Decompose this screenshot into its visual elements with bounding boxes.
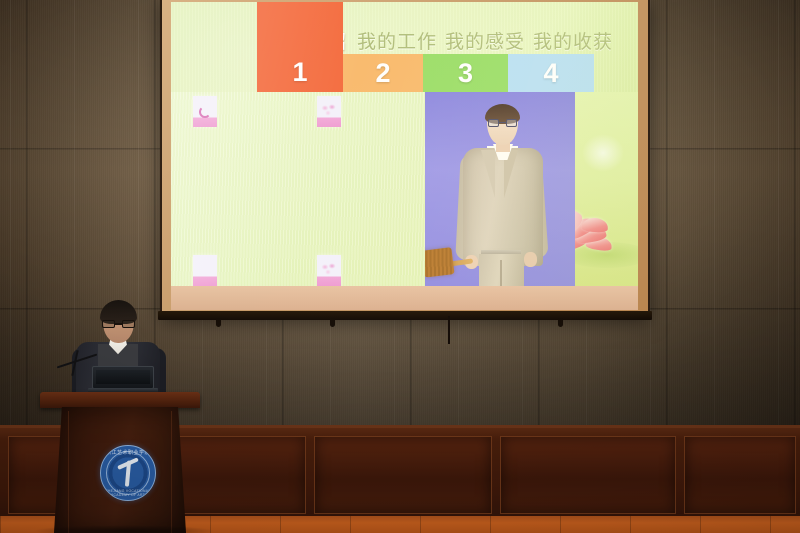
decorative-square-icon [193, 96, 217, 127]
presenter-glasses-icon [102, 320, 135, 328]
screen-blank-margin [171, 286, 638, 310]
slide-block-1: 1 [257, 2, 343, 92]
wooden-podium: 浙江艺术职业学院 ZHEJIANG VOCATIONAL ACADEMY OF … [40, 392, 200, 533]
decorative-square-icon [317, 255, 341, 286]
wood-panel [500, 436, 676, 514]
lotus-glow [582, 134, 624, 172]
screen-hook-icon [330, 318, 335, 327]
screen-bottom-weight-bar [158, 311, 652, 320]
presentation-slide: 自我介绍 我的工作 我的感受 我的收获 1 2 3 4 [171, 2, 638, 286]
decorative-square-icon [317, 96, 341, 127]
projection-screen: 自我介绍 我的工作 我的感受 我的收获 1 2 3 4 [171, 2, 638, 286]
brush-prop-icon [425, 247, 455, 278]
screen-pull-rod [448, 316, 450, 344]
lecture-hall-scene: 自我介绍 我的工作 我的感受 我的收获 1 2 3 4 [0, 0, 800, 533]
portrait-figure [425, 92, 575, 286]
slide-content-board [171, 92, 638, 286]
decorative-square-icon [193, 255, 217, 286]
wood-panel [314, 436, 492, 514]
slide-number-blocks: 1 2 3 4 [171, 54, 638, 92]
slide-block-3: 3 [423, 54, 508, 92]
wood-panel [684, 436, 796, 514]
emblem-bird-icon [118, 459, 138, 489]
slide-tab-titles: 自我介绍 我的工作 我的感受 我的收获 [171, 20, 638, 54]
laptop-on-podium[interactable] [92, 366, 154, 393]
slide-block-2: 2 [343, 54, 423, 92]
speaker-portrait-photo [425, 92, 575, 286]
institution-emblem: 浙江艺术职业学院 ZHEJIANG VOCATIONAL ACADEMY OF … [100, 445, 156, 501]
podium-floor-shadow [34, 525, 214, 533]
tab-title-3: 我的感受 [445, 32, 525, 54]
tab-title-4: 我的收获 [533, 32, 613, 54]
podium-top-surface [40, 392, 200, 408]
slide-block-4: 4 [508, 54, 594, 92]
projection-screen-assembly: 自我介绍 我的工作 我的感受 我的收获 1 2 3 4 [160, 0, 650, 316]
podium-front-panel: 浙江艺术职业学院 ZHEJIANG VOCATIONAL ACADEMY OF … [54, 407, 186, 533]
emblem-cn-text: 浙江艺术职业学院 [101, 449, 155, 456]
screen-hook-icon [216, 318, 221, 327]
portrait-glasses-icon [488, 119, 517, 127]
tab-title-2: 我的工作 [357, 32, 437, 54]
screen-hook-icon [558, 318, 563, 327]
podium-group: 浙江艺术职业学院 ZHEJIANG VOCATIONAL ACADEMY OF … [40, 300, 200, 533]
emblem-en-text: ZHEJIANG VOCATIONAL ACADEMY OF ART [101, 489, 155, 497]
